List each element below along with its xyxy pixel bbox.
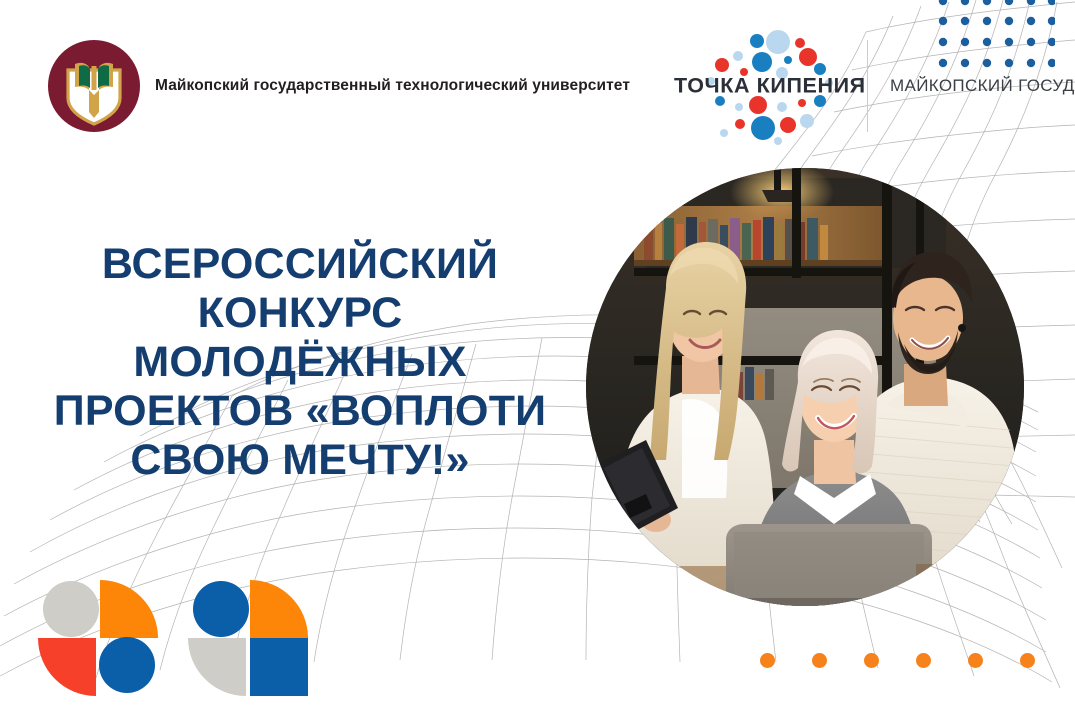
poster-canvas: Майкопский государственный технологическ… (0, 0, 1075, 720)
poster-header: Майкопский государственный технологическ… (0, 0, 1075, 172)
orange-dot-row-icon (760, 653, 1035, 668)
quadrant-mark-left-icon (38, 576, 160, 698)
orange-dot (1020, 653, 1035, 668)
mgtu-caps-text: МАЙКОПСКИЙ ГОСУДАРСТВЕННЫЙ ТЕХНОЛОГИЧЕСК… (890, 73, 1075, 99)
tochka-kipeniya-label: ТОЧКА КИПЕНИЯ (674, 74, 849, 99)
orange-dot (968, 653, 983, 668)
quadrant-mark-right-icon (188, 576, 310, 698)
team-at-laptop-photo (586, 168, 1024, 606)
tochka-kipeniya-logo: ТОЧКА КИПЕНИЯ (674, 25, 849, 147)
orange-dot (916, 653, 931, 668)
orange-dot (760, 653, 775, 668)
orange-dot (812, 653, 827, 668)
header-divider (867, 40, 868, 132)
orange-dot (864, 653, 879, 668)
mgtu-crest-icon (48, 40, 140, 132)
mgtu-logo: Майкопский государственный технологическ… (48, 40, 630, 132)
mgtu-name-text: Майкопский государственный технологическ… (155, 75, 630, 97)
decorative-marks (38, 576, 310, 698)
page-title: ВСЕРОССИЙСКИЙ КОНКУРС МОЛОДЁЖНЫХ ПРОЕКТО… (0, 240, 600, 485)
